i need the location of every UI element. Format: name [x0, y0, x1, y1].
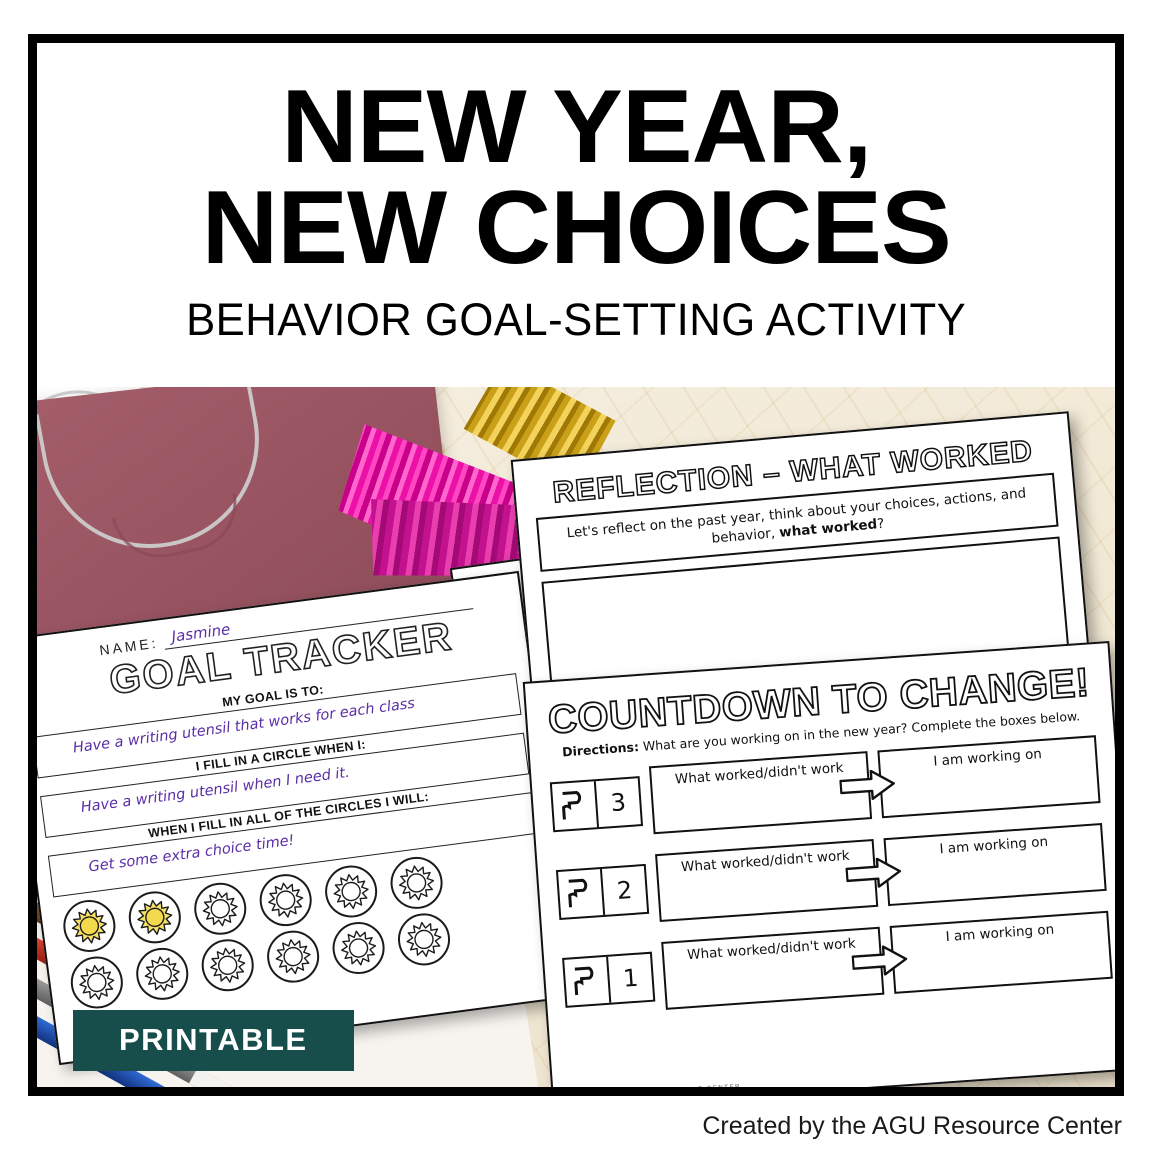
countdown-number-box: 3: [550, 776, 643, 832]
sun-burst-icon[interactable]: [191, 880, 249, 938]
countdown-digit: 3: [610, 788, 627, 817]
product-photo: NAME: Jasmine GOAL TRACKER MY GOAL IS TO…: [37, 387, 1115, 1087]
footer-credit: Created by the AGU Resource Center: [0, 1100, 1152, 1152]
sun-burst-icon-filled[interactable]: [126, 888, 184, 946]
puzzle-piece-icon: [567, 878, 595, 910]
reflection-directions-suffix: ?: [876, 516, 885, 533]
goal-tracker-worksheet: NAME: Jasmine GOAL TRACKER MY GOAL IS TO…: [37, 571, 575, 1065]
cover-image: NEW YEAR, NEW CHOICES BEHAVIOR GOAL-SETT…: [0, 0, 1152, 1152]
countdown-puzzle-cell: [552, 781, 599, 830]
countdown-digit: 2: [616, 876, 633, 905]
sun-burst-icon-filled[interactable]: [60, 897, 118, 955]
sun-burst-icon[interactable]: [322, 862, 380, 920]
countdown-puzzle-cell: [558, 869, 605, 918]
countdown-working-on-label: I am working on: [945, 922, 1057, 988]
countdown-digit-cell: 1: [608, 954, 653, 1003]
countdown-number-box: 2: [556, 864, 649, 920]
name-handwritten-value: Jasmine: [171, 620, 232, 646]
countdown-working-on-label: I am working on: [939, 834, 1051, 900]
sun-burst-icon[interactable]: [257, 871, 315, 929]
title-line-2: NEW CHOICES: [201, 180, 950, 277]
countdown-what-worked-label: What worked/didn't work: [674, 760, 847, 831]
countdown-directions-label: Directions:: [562, 739, 640, 759]
title-block: NEW YEAR, NEW CHOICES BEHAVIOR GOAL-SETT…: [37, 43, 1115, 387]
countdown-what-worked-label: What worked/didn't work: [687, 935, 860, 1006]
countdown-working-on-label: I am working on: [933, 746, 1045, 812]
sun-burst-icon[interactable]: [329, 919, 387, 977]
countdown-rows: 3What worked/didn't workI am working on2…: [549, 732, 1113, 1020]
sun-burst-icon[interactable]: [395, 910, 453, 968]
printable-badge: PRINTABLE: [73, 1010, 354, 1071]
puzzle-piece-icon: [573, 965, 601, 997]
countdown-number-box: 1: [562, 952, 655, 1008]
title-line-1: NEW YEAR,: [281, 79, 871, 176]
subtitle: BEHAVIOR GOAL-SETTING ACTIVITY: [186, 294, 966, 346]
countdown-working-on-box[interactable]: I am working on: [877, 735, 1100, 818]
arrow-right-icon: [839, 768, 897, 802]
countdown-what-worked-box[interactable]: What worked/didn't work: [649, 751, 872, 834]
sun-burst-icon[interactable]: [387, 854, 445, 912]
sun-burst-icon[interactable]: [133, 945, 191, 1003]
puzzle-piece-icon: [560, 790, 588, 822]
countdown-working-on-box[interactable]: I am working on: [890, 911, 1113, 994]
sun-burst-icon[interactable]: [199, 936, 257, 994]
arrow-right-icon: [851, 944, 909, 978]
sun-burst-icon[interactable]: [264, 927, 322, 985]
countdown-what-worked-box[interactable]: What worked/didn't work: [661, 927, 884, 1010]
countdown-working-on-box[interactable]: I am working on: [883, 823, 1106, 906]
countdown-what-worked-box[interactable]: What worked/didn't work: [655, 839, 878, 922]
sun-burst-icon[interactable]: [68, 953, 126, 1011]
countdown-what-worked-label: What worked/didn't work: [681, 848, 854, 919]
countdown-worksheet: COUNTDOWN TO CHANGE! Directions: What ar…: [523, 641, 1115, 1087]
cover-frame: NEW YEAR, NEW CHOICES BEHAVIOR GOAL-SETT…: [28, 34, 1124, 1096]
countdown-digit-cell: 2: [602, 866, 647, 915]
countdown-digit-cell: 3: [596, 778, 641, 827]
countdown-digit: 1: [622, 964, 639, 993]
arrow-right-icon: [845, 856, 903, 890]
countdown-copyright: © COPYRIGHT AGU RESOURCE CENTER: [574, 1084, 742, 1087]
countdown-puzzle-cell: [564, 957, 611, 1006]
